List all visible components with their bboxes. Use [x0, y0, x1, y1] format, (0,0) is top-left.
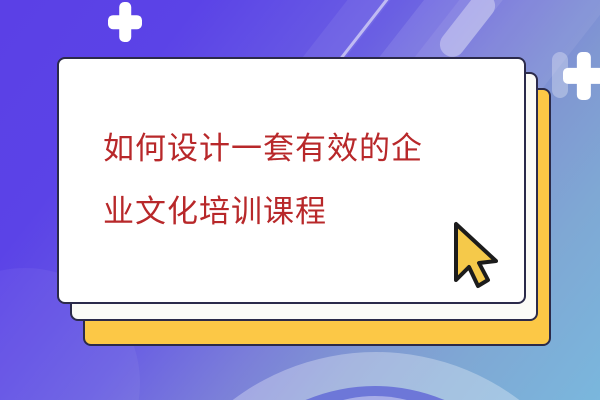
headline-line-2: 业文化培训课程 [103, 194, 327, 229]
plus-icon-top-left [108, 2, 142, 42]
mouse-cursor-arrow-icon [446, 218, 502, 290]
rounded-capsule-icon-small [552, 52, 568, 98]
arc-outer [138, 352, 600, 400]
rounded-capsule-icon [435, 0, 500, 62]
plus-icon-right [563, 52, 600, 100]
arc-middle [196, 386, 554, 400]
poster-canvas: 如何设计一套有效的企业文化培训课程 [0, 0, 600, 400]
arc-inner [246, 396, 504, 400]
page-title: 如何设计一套有效的企业文化培训课程 [103, 117, 493, 243]
headline-line-1: 如何设计一套有效的企 [103, 131, 423, 166]
